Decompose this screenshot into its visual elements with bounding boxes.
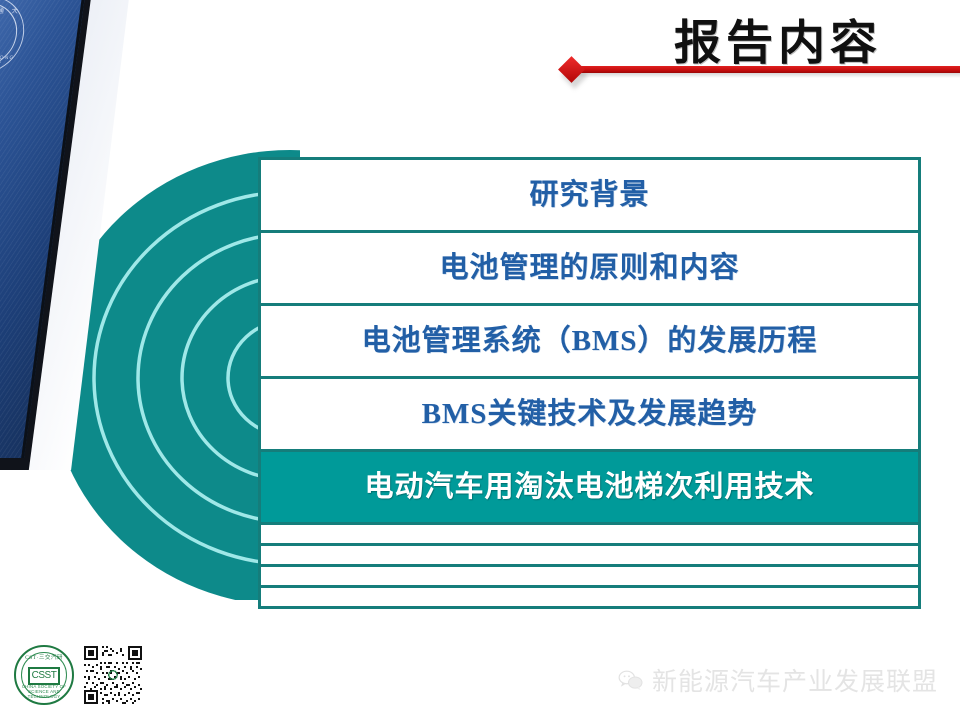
watermark-text: 新能源汽车产业发展联盟 (652, 662, 938, 698)
toc-row-active[interactable]: 电动汽车用淘汰电池梯次利用技术 (261, 452, 918, 525)
wechat-watermark: 新能源汽车产业发展联盟 (618, 662, 938, 698)
band-blue-panel: 北 京 交 通 大 学 BEIJING JIAOTONG UNIVERSITY (0, 0, 86, 458)
left-diagonal-band: 北 京 交 通 大 学 BEIJING JIAOTONG UNIVERSITY (0, 0, 180, 470)
toc-row[interactable]: 电池管理系统（BMS）的发展历程 (261, 306, 918, 379)
slide: 北 京 交 通 大 学 BEIJING JIAOTONG UNIVERSITY … (0, 0, 960, 720)
title-rule (578, 66, 960, 73)
toc-row[interactable]: 研究背景 (261, 160, 918, 233)
toc-row[interactable] (261, 567, 918, 588)
band-grey-edge (0, 0, 130, 470)
toc-row[interactable] (261, 588, 918, 609)
seal-name-cn: 北 京 交 通 大 学 (0, 5, 27, 25)
toc-row-label: 电动汽车用淘汰电池梯次利用技术 (364, 473, 814, 502)
csst-top-text: CST·三交汽研 (16, 653, 72, 661)
csst-mark: CSST (28, 667, 60, 685)
seal-name-en: BEIJING JIAOTONG UNIVERSITY (0, 55, 20, 67)
csst-seal-icon: CST·三交汽研 CSST CHINA SOCIETY OF SCIENCE A… (14, 645, 74, 705)
band-black-edge (0, 0, 92, 470)
university-seal-icon: 北 京 交 通 大 学 BEIJING JIAOTONG UNIVERSITY (0, 0, 29, 74)
page-title: 报告内容 (674, 4, 882, 73)
toc-row-label: BMS关键技术及发展趋势 (422, 400, 758, 429)
toc-row[interactable]: BMS关键技术及发展趋势 (261, 379, 918, 452)
toc-row[interactable] (261, 525, 918, 546)
toc-row[interactable]: 电池管理的原则和内容 (261, 233, 918, 306)
toc-row-label: 电池管理的原则和内容 (439, 254, 739, 283)
toc-table: 研究背景 电池管理的原则和内容 电池管理系统（BMS）的发展历程 BMS关键技术… (258, 157, 921, 609)
toc-row[interactable] (261, 546, 918, 567)
title-rule-shadow (578, 73, 960, 78)
wechat-icon (618, 669, 644, 691)
csst-bottom-text: CHINA SOCIETY OF SCIENCE AND TECHNOLOGY (16, 684, 72, 699)
qr-code-icon (84, 646, 142, 704)
toc-row-label: 电池管理系统（BMS）的发展历程 (362, 327, 818, 356)
seal-inner-ring (0, 3, 21, 67)
toc-row-label: 研究背景 (529, 181, 649, 210)
seal-emblem-icon (0, 15, 7, 55)
